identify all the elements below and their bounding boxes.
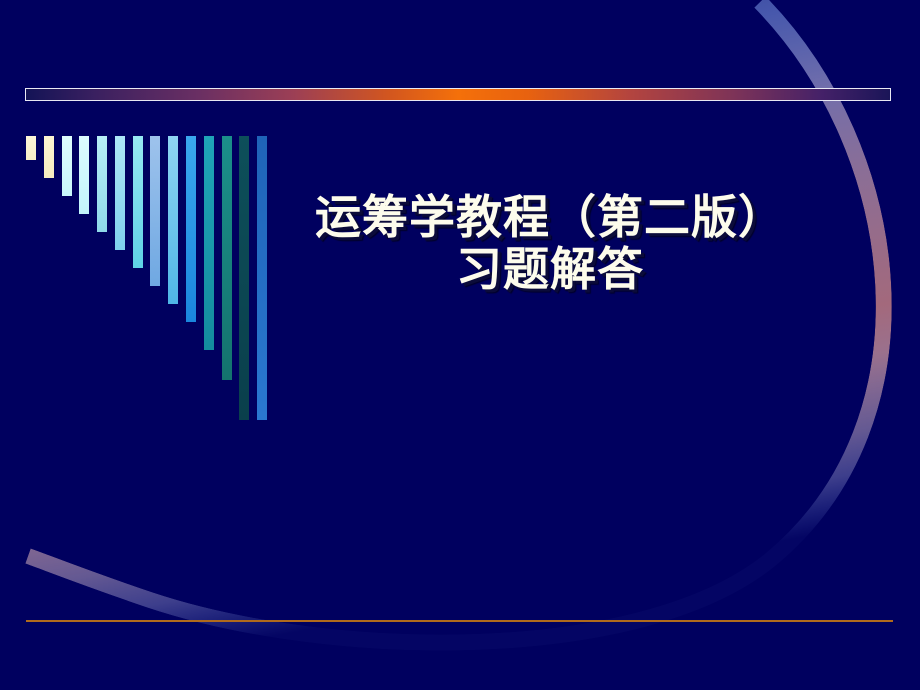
fan-bar (150, 136, 160, 286)
fan-bar (222, 136, 232, 380)
title-slide: 运筹学教程（第二版） 习题解答 (0, 0, 920, 690)
fan-bar (62, 136, 72, 196)
fan-bar (168, 136, 178, 304)
fan-bar (97, 136, 107, 232)
title-line-primary: 运筹学教程（第二版） (250, 192, 850, 244)
fan-bar (79, 136, 89, 214)
fan-bar (204, 136, 214, 350)
fan-bar (44, 136, 54, 178)
fan-bar (186, 136, 196, 322)
fan-bar (26, 136, 36, 160)
fan-bar (239, 136, 249, 420)
title-line-secondary: 习题解答 (250, 244, 850, 296)
bottom-accent-rule (26, 620, 893, 622)
fan-bar (133, 136, 143, 268)
fan-bar (115, 136, 125, 250)
slide-title: 运筹学教程（第二版） 习题解答 (250, 192, 850, 295)
